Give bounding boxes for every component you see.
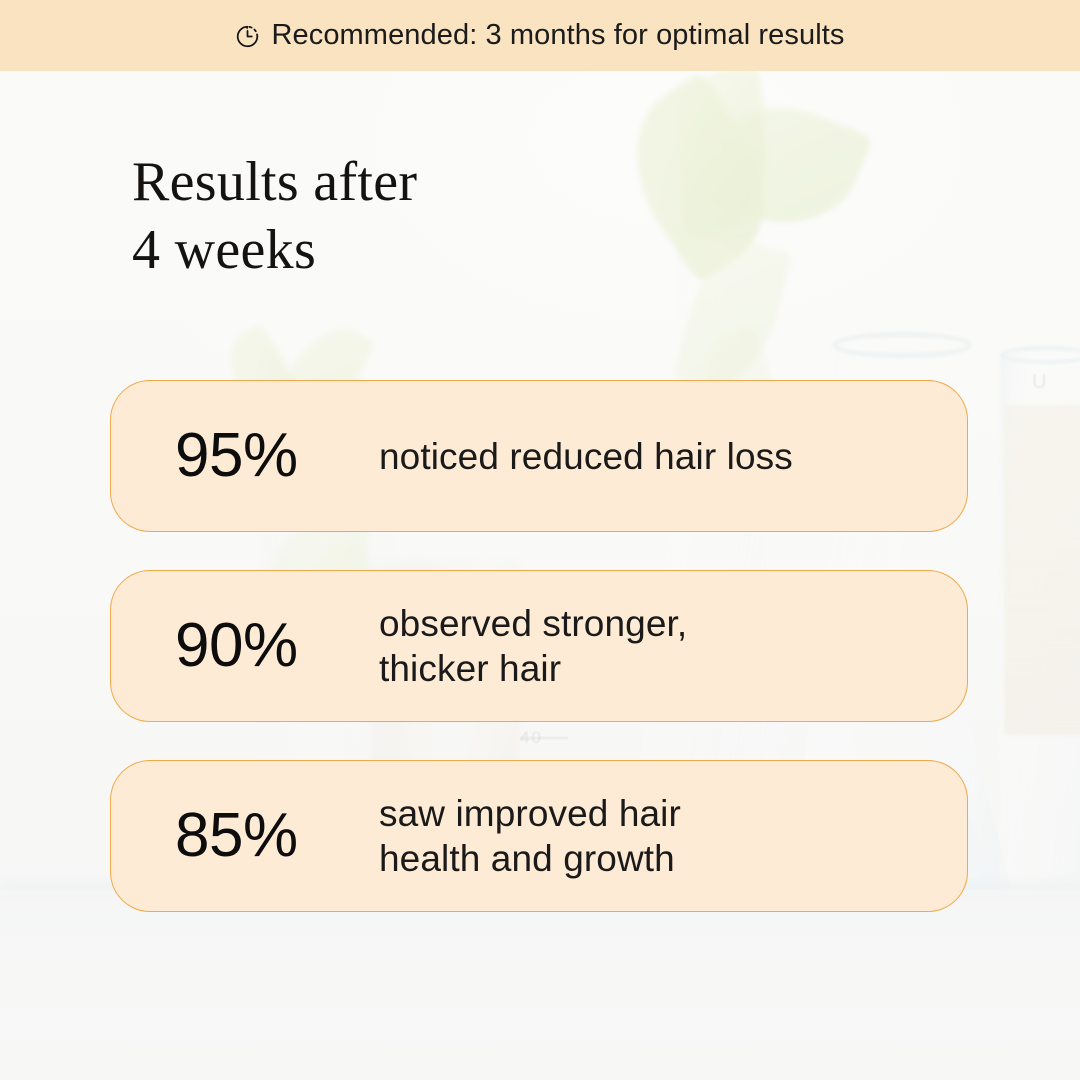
stat-label: noticed reduced hair loss bbox=[379, 434, 793, 479]
stat-card: 85% saw improved hair health and growth bbox=[110, 760, 968, 912]
stat-percent: 95% bbox=[175, 425, 379, 487]
stat-label: saw improved hair health and growth bbox=[379, 791, 681, 881]
stat-card: 95% noticed reduced hair loss bbox=[110, 380, 968, 532]
stat-percent: 85% bbox=[175, 805, 379, 867]
stat-percent: 90% bbox=[175, 615, 379, 677]
clock-history-icon bbox=[235, 24, 260, 49]
stat-card: 90% observed stronger, thicker hair bbox=[110, 570, 968, 722]
recommendation-text: Recommended: 3 months for optimal result… bbox=[271, 19, 844, 52]
recommendation-banner: Recommended: 3 months for optimal result… bbox=[0, 0, 1080, 71]
stat-label: observed stronger, thicker hair bbox=[379, 601, 687, 691]
stats-list: 95% noticed reduced hair loss 90% observ… bbox=[110, 380, 968, 912]
poster-canvas: 40 U 40 Recommended: 3 months for optima… bbox=[0, 0, 1080, 1080]
page-title: Results after 4 weeks bbox=[132, 148, 417, 284]
